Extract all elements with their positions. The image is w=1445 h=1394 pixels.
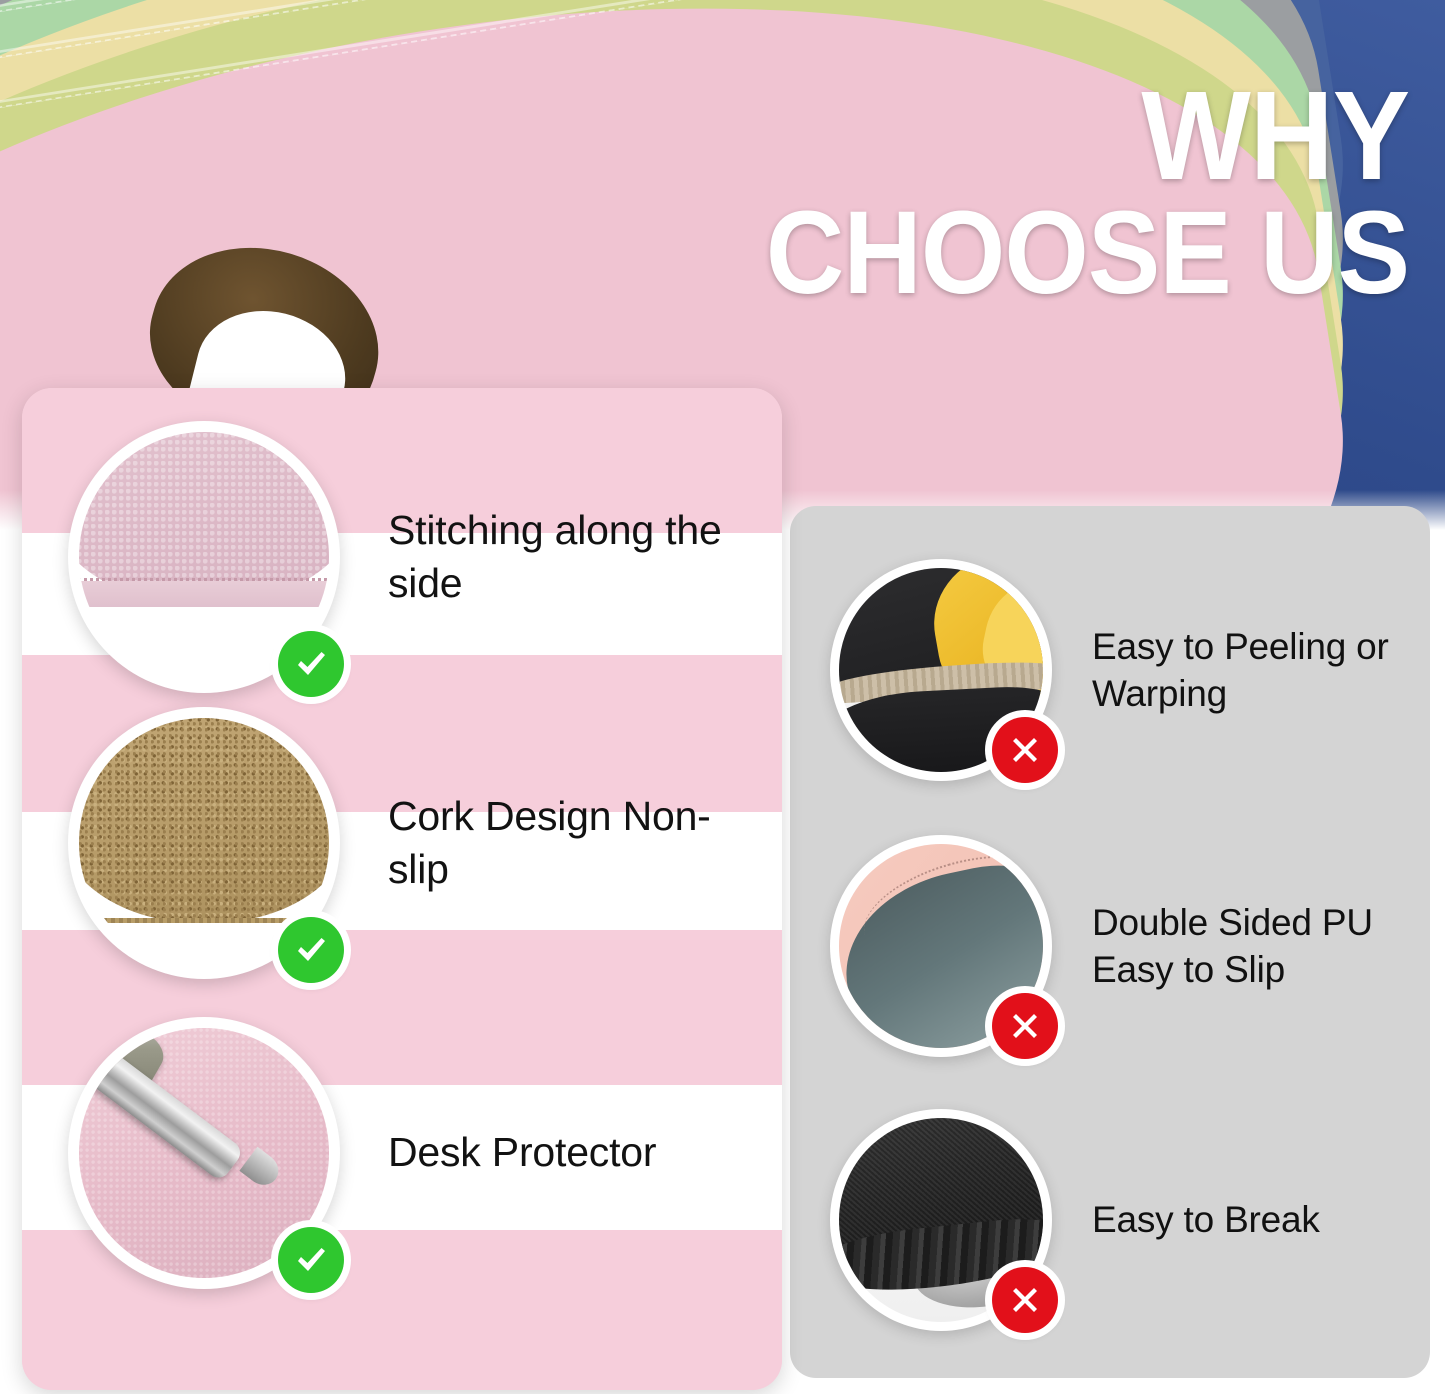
infographic-root: WHY CHOOSE US Easy to Peeling or Warping (0, 0, 1445, 1394)
list-item: Double Sided PU Easy to Slip (830, 826, 1410, 1066)
check-icon (278, 631, 344, 697)
cons-photo-slip (830, 835, 1052, 1057)
cons-photo-peeling (830, 559, 1052, 781)
advantages-card: Stitching along the side Cork Design Non… (22, 388, 782, 1390)
pros-label: Stitching along the side (388, 504, 768, 611)
cross-icon (992, 1267, 1058, 1333)
cons-label: Easy to Break (1092, 1196, 1320, 1243)
cross-icon (992, 993, 1058, 1059)
cross-icon (992, 717, 1058, 783)
check-icon (278, 917, 344, 983)
pros-label: Cork Design Non-slip (388, 790, 768, 897)
check-icon (278, 1227, 344, 1293)
cons-label: Double Sided PU Easy to Slip (1092, 899, 1410, 994)
disadvantages-list: Easy to Peeling or Warping Double Sided … (790, 506, 1430, 1378)
list-item: Stitching along the side (68, 422, 768, 692)
pros-photo-desk-protector (68, 1017, 340, 1289)
page-title-line-2: CHOOSE US (766, 197, 1409, 310)
list-item: Easy to Break (830, 1100, 1410, 1340)
list-item: Desk Protector (68, 1018, 768, 1288)
list-item: Cork Design Non-slip (68, 708, 768, 978)
pros-photo-cork (68, 707, 340, 979)
page-title: WHY CHOOSE US (710, 76, 1409, 310)
pros-label: Desk Protector (388, 1126, 656, 1179)
disadvantages-card: Easy to Peeling or Warping Double Sided … (790, 506, 1430, 1378)
list-item: Easy to Peeling or Warping (830, 550, 1410, 790)
pros-photo-stitching (68, 421, 340, 693)
cons-photo-break (830, 1109, 1052, 1331)
cons-label: Easy to Peeling or Warping (1092, 623, 1410, 718)
page-title-line-1: WHY (766, 76, 1409, 197)
